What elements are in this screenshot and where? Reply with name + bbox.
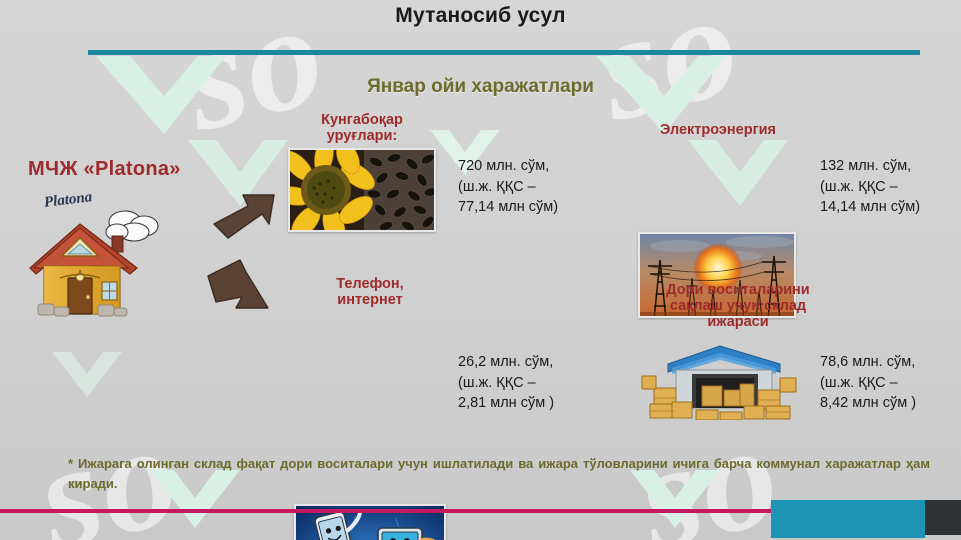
- expense-item-electricity: Электроэнергия: [628, 122, 808, 138]
- chevron-watermark: [688, 140, 788, 232]
- arrow-down-right-icon: [206, 258, 274, 321]
- expense-value: 78,6 млн. сўм, (ш.ж. ҚҚС – 8,42 млн сўм …: [820, 352, 961, 414]
- chevron-watermark: [96, 56, 226, 166]
- footnote-text: * Ижарага олинган склад фақат дори восит…: [68, 454, 930, 493]
- expense-label-line1: Телефон,: [300, 276, 440, 292]
- expense-item-warehouse-rent: Дори воситаларини сақлаш учун склад ижар…: [618, 282, 858, 331]
- expense-value: 720 млн. сўм, (ш.ж. ҚҚС – 77,14 млн сўм): [458, 156, 633, 218]
- bottom-dark-block: [925, 500, 961, 535]
- company-name: МЧЖ «Platona»: [28, 158, 181, 181]
- house-illustration: [22, 208, 172, 318]
- expense-label-line2: сақлаш учун склад: [618, 298, 858, 314]
- warehouse-boxes-photo: [640, 334, 800, 420]
- page-title: Мутаносиб усул: [0, 4, 961, 28]
- sunflower-seeds-photo: [288, 148, 436, 232]
- chevron-watermark: [596, 56, 726, 166]
- expense-label-line1: Дори воситаларини: [618, 282, 858, 298]
- expense-label: Дори воситаларини сақлаш учун склад ижар…: [618, 282, 858, 331]
- expense-label-line3: ижараси: [618, 314, 858, 330]
- expense-item-sunflower-seeds: Кунгабоқар уруғлари:: [280, 112, 444, 144]
- title-underline-rule: [88, 50, 920, 55]
- slide-canvas: so so so so Мутаносиб усул Январ ойи хар…: [0, 0, 961, 540]
- expense-label-line1: Электроэнергия: [628, 122, 808, 138]
- expense-label-line2: уруғлари:: [280, 128, 444, 144]
- expense-label: Кунгабоқар уруғлари:: [280, 112, 444, 144]
- expense-value: 132 млн. сўм, (ш.ж. ҚҚС – 14,14 млн сўм): [820, 156, 961, 218]
- expense-label: Электроэнергия: [628, 122, 808, 138]
- bottom-teal-block: [771, 500, 925, 538]
- subtitle: Январ ойи харажатлари: [0, 76, 961, 98]
- expense-label-line2: интернет: [300, 292, 440, 308]
- expense-item-phone-internet: Телефон, интернет: [300, 276, 440, 308]
- expense-label: Телефон, интернет: [300, 276, 440, 308]
- chevron-watermark: [52, 352, 122, 414]
- expense-label-line1: Кунгабоқар: [280, 112, 444, 128]
- arrow-up-right-icon: [212, 190, 280, 251]
- expense-value: 26,2 млн. сўм, (ш.ж. ҚҚС – 2,81 млн сўм …: [458, 352, 633, 414]
